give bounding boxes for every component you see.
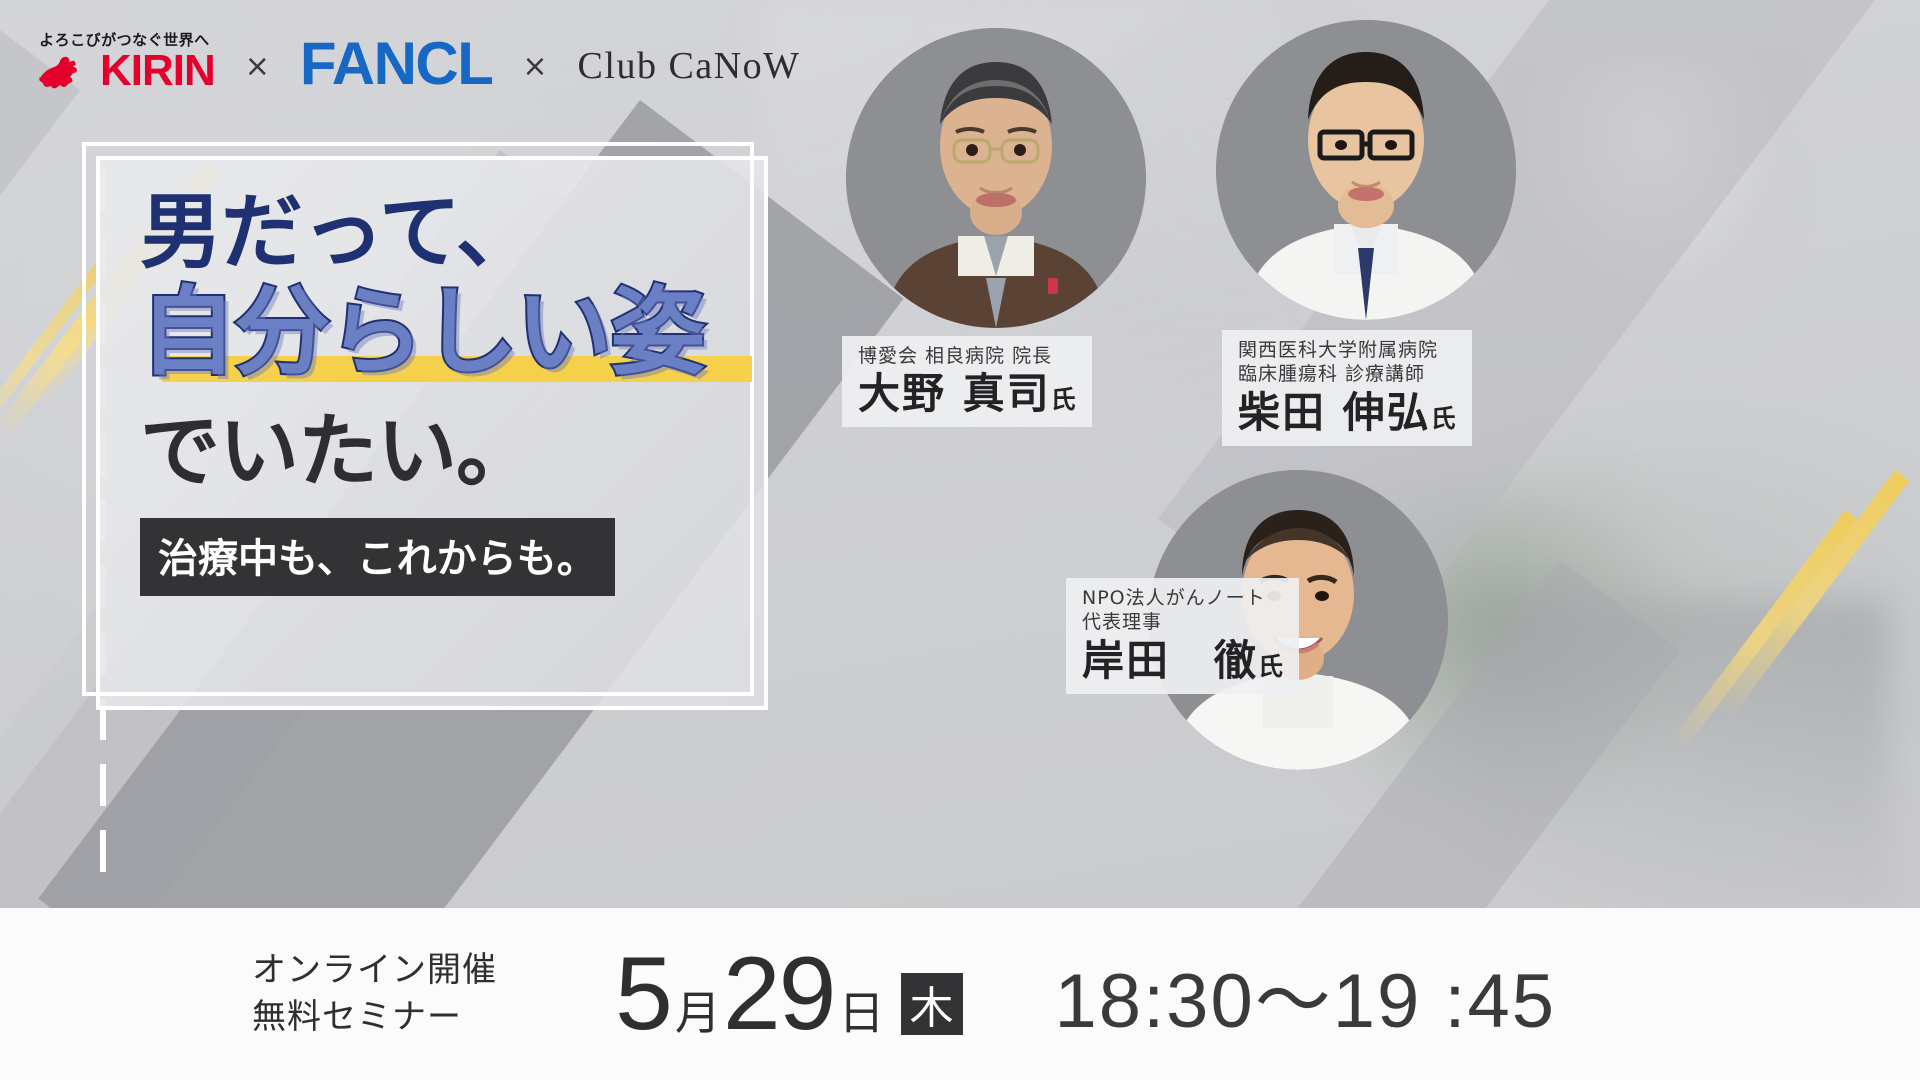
- speaker-nameplate-kishida: NPO法人がんノート 代表理事 岸田 徹氏: [1066, 578, 1299, 694]
- logo-separator-1: ×: [245, 35, 270, 84]
- speaker-portrait-ohno: [846, 28, 1146, 328]
- event-format-line-1: オンライン開催: [252, 947, 497, 994]
- event-day-unit: 日: [839, 977, 885, 1043]
- fancl-logo: FANCL: [300, 24, 492, 94]
- speaker-name-text-shibata: 柴田 伸弘: [1238, 388, 1431, 437]
- headline-line-2: 自分らしい姿: [140, 282, 760, 383]
- speaker-name-text-ohno: 大野 真司: [858, 369, 1051, 418]
- speaker-nameplate-ohno: 博愛会 相良病院 院長 大野 真司氏: [842, 336, 1092, 427]
- speaker-affiliation-shibata-line2: 臨床腫瘍科 診療講師: [1238, 362, 1456, 386]
- headline-block: 男だって、 自分らしい姿 でいたい。 治療中も、これからも。: [140, 190, 760, 596]
- speaker-name-text-kishida: 岸田 徹: [1082, 636, 1258, 685]
- kirin-dragon-icon: [34, 52, 96, 90]
- kirin-logo: よろこびがつなぐ世界へ KIRIN: [34, 29, 215, 90]
- speaker-nameplate-shibata: 関西医科大学附属病院 臨床腫瘍科 診療講師 柴田 伸弘氏: [1222, 330, 1472, 446]
- portrait-photo-shibata: [1216, 20, 1516, 320]
- event-month-number: 5: [615, 942, 671, 1046]
- speaker-affiliation-kishida-line2: 代表理事: [1082, 610, 1283, 634]
- speaker-portrait-shibata: [1216, 20, 1516, 320]
- event-time-range: 18:30～19 :45: [1055, 939, 1557, 1049]
- portrait-photo-ohno: [846, 28, 1146, 328]
- speaker-name-suffix-ohno: 氏: [1051, 385, 1076, 414]
- event-date-block: 5 月 29 日 木: [615, 942, 963, 1046]
- kirin-wordmark: KIRIN: [100, 52, 215, 89]
- speaker-affiliation-kishida-line1: NPO法人がんノート: [1082, 586, 1283, 610]
- speaker-affiliation-shibata-line1: 関西医科大学附属病院: [1238, 338, 1456, 362]
- speaker-name-ohno: 大野 真司氏: [858, 370, 1076, 417]
- speaker-affiliation-ohno: 博愛会 相良病院 院長: [858, 344, 1076, 368]
- speaker-name-shibata: 柴田 伸弘氏: [1238, 389, 1456, 436]
- headline-line-3: でいたい。: [140, 410, 760, 494]
- club-canow-logo: Club CaNoW: [578, 30, 801, 88]
- logo-separator-2: ×: [522, 35, 547, 84]
- speaker-name-kishida: 岸田 徹氏: [1082, 637, 1283, 684]
- event-day-number: 29: [723, 942, 835, 1046]
- headline-subtitle-banner: 治療中も、これからも。: [140, 518, 615, 596]
- seminar-banner: よろこびがつなぐ世界へ KIRIN × FANCL × Club CaNoW 男…: [0, 0, 1920, 1080]
- event-weekday-badge: 木: [901, 973, 963, 1035]
- event-format-block: オンライン開催 無料セミナー: [252, 947, 497, 1041]
- event-format-line-2: 無料セミナー: [252, 994, 497, 1041]
- speaker-name-suffix-kishida: 氏: [1258, 652, 1283, 681]
- event-month-unit: 月: [675, 977, 721, 1043]
- event-info-bar: オンライン開催 無料セミナー 5 月 29 日 木 18:30～19 :45: [0, 908, 1920, 1080]
- headline-line-1: 男だって、: [140, 190, 760, 276]
- speaker-name-suffix-shibata: 氏: [1431, 404, 1456, 433]
